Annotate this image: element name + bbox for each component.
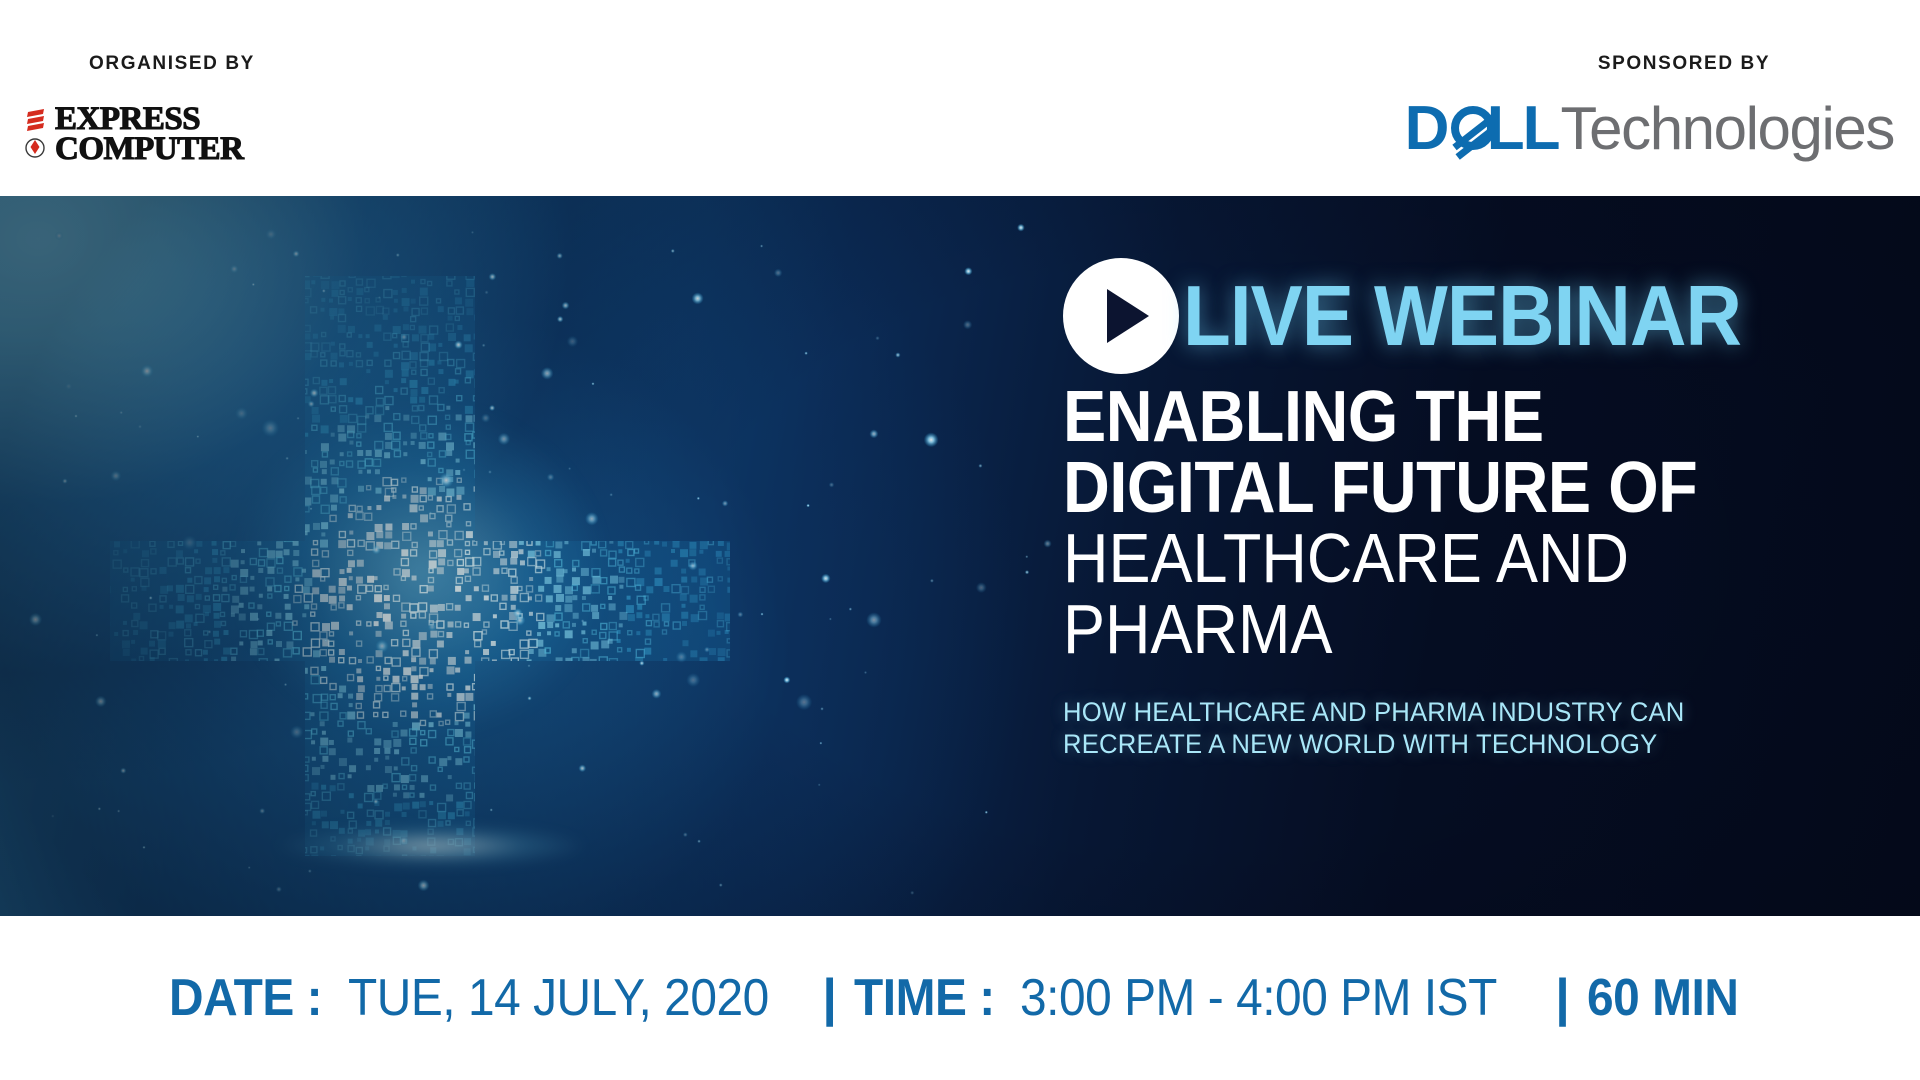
organiser-block: ORGANISED BY <box>22 54 322 73</box>
sponsored-by-label: SPONSORED BY <box>1474 54 1894 73</box>
separator-1: | <box>818 968 841 1028</box>
date-value: TUE, 14 JULY, 2020 <box>348 968 769 1028</box>
express-group-mark-icon <box>22 104 48 166</box>
hero-subtitle-line-2: RECREATE A NEW WORLD WITH TECHNOLOGY <box>1063 728 1842 760</box>
hero-title-line-1: ENABLING THE <box>1063 382 1801 453</box>
webinar-banner: ORGANISED BY EXPRESS COMP <box>0 0 1920 1080</box>
dell-letters-ll: LL <box>1487 94 1559 163</box>
footer-bar: DATE : TUE, 14 JULY, 2020 | TIME : 3:00 … <box>0 916 1920 1080</box>
dell-letter-d: D <box>1405 94 1448 163</box>
dell-technologies-logo: DELL Technologies <box>1405 98 1894 160</box>
logo-line-express: EXPRESS <box>55 104 244 134</box>
schedule-line: DATE : TUE, 14 JULY, 2020 | TIME : 3:00 … <box>169 968 1752 1028</box>
date-label: DATE : <box>169 968 322 1028</box>
express-computer-logo: EXPRESS COMPUTER <box>22 104 244 166</box>
hero-title-line-4: PHARMA <box>1063 594 1801 665</box>
sponsor-block: SPONSORED BY <box>1474 54 1894 73</box>
hero-text-column: LIVE WEBINAR ENABLING THE DIGITAL FUTURE… <box>1063 256 1883 761</box>
live-webinar-badge: LIVE WEBINAR <box>1063 256 1883 376</box>
duration-value: 60 MIN <box>1587 968 1738 1028</box>
separator-2: | <box>1551 968 1574 1028</box>
time-label: TIME : <box>854 968 995 1028</box>
hero-subtitle-line-1: HOW HEALTHCARE AND PHARMA INDUSTRY CAN <box>1063 696 1842 728</box>
hero-section: LIVE WEBINAR ENABLING THE DIGITAL FUTURE… <box>0 196 1920 916</box>
play-icon[interactable] <box>1063 258 1179 374</box>
play-triangle-icon <box>1107 289 1149 343</box>
express-computer-wordmark: EXPRESS COMPUTER <box>55 104 244 165</box>
hero-title-line-2: DIGITAL FUTURE OF <box>1063 453 1801 524</box>
header-bar: ORGANISED BY EXPRESS COMP <box>0 0 1920 196</box>
time-value: 3:00 PM - 4:00 PM IST <box>1020 968 1497 1028</box>
dell-technologies-word: Technologies <box>1561 99 1894 159</box>
live-webinar-label: LIVE WEBINAR <box>1183 274 1741 359</box>
dell-wordmark: DELL <box>1405 98 1559 160</box>
organised-by-label: ORGANISED BY <box>22 54 322 73</box>
hero-title-line-3: HEALTHCARE AND <box>1063 523 1801 594</box>
logo-line-computer: COMPUTER <box>55 134 244 164</box>
